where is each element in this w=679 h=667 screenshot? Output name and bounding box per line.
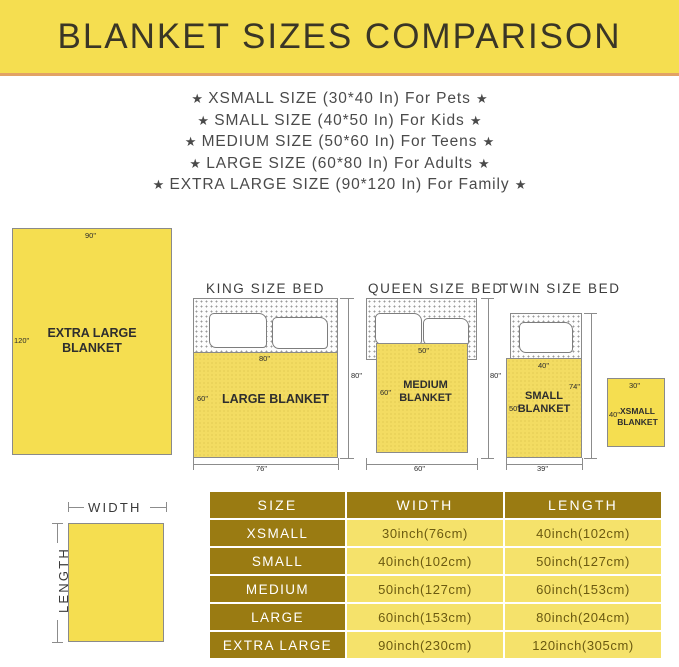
twin-blanket-label-line1: SMALL	[506, 390, 582, 403]
table-cell-size: XSMALL	[210, 520, 345, 546]
table-cell-size: SMALL	[210, 548, 345, 574]
king-bed-title: KING SIZE BED	[206, 281, 325, 296]
legend-width-rule-right	[150, 507, 166, 508]
legend-width-tick-left	[68, 502, 69, 512]
twin-width-tick-left	[506, 458, 507, 470]
list-item-label: MEDIUM SIZE (50*60 In) For Teens	[202, 133, 478, 150]
star-icon: ★	[197, 113, 209, 128]
table-row: EXTRA LARGE 90inch(230cm) 120inch(305cm)	[210, 632, 661, 658]
table-cell-size: MEDIUM	[210, 576, 345, 602]
king-length-tick-bottom	[340, 458, 354, 459]
twin-blanket-label: SMALL BLANKET	[506, 390, 582, 416]
queen-width-tick-right	[477, 458, 478, 470]
size-table: SIZE WIDTH LENGTH XSMALL 30inch(76cm) 40…	[208, 490, 663, 660]
twin-length-tick-top	[584, 313, 597, 314]
table-cell-size: EXTRA LARGE	[210, 632, 345, 658]
size-bullet-list: ★ XSMALL SIZE (30*40 In) For Pets ★ ★ SM…	[0, 88, 679, 196]
star-icon: ★	[191, 91, 203, 106]
queen-blanket-label-line1: MEDIUM	[383, 379, 468, 392]
table-row: MEDIUM 50inch(127cm) 60inch(153cm)	[210, 576, 661, 602]
header-banner: BLANKET SIZES COMPARISON	[0, 0, 679, 73]
king-length-rule	[348, 298, 349, 458]
king-blanket-width-dimension: 80"	[259, 354, 270, 363]
page-title: BLANKET SIZES COMPARISON	[57, 17, 621, 57]
list-item: ★ LARGE SIZE (60*80 In) For Adults ★	[0, 153, 679, 175]
legend-width-label: WIDTH	[88, 500, 142, 515]
twin-length-rule	[591, 313, 592, 458]
twin-width-tick-right	[582, 458, 583, 470]
list-item: ★ XSMALL SIZE (30*40 In) For Pets ★	[0, 88, 679, 110]
king-width-tick-right	[338, 458, 339, 470]
list-item: ★ EXTRA LARGE SIZE (90*120 In) For Famil…	[0, 174, 679, 196]
legend-width-rule-left	[68, 507, 84, 508]
table-cell-length: 40inch(102cm)	[505, 520, 661, 546]
king-blanket-label: LARGE BLANKET	[213, 392, 338, 407]
table-header-width: WIDTH	[347, 492, 503, 518]
legend-length-rule-bottom	[57, 620, 58, 642]
star-icon: ★	[476, 91, 488, 106]
twin-length-tick-bottom	[584, 458, 597, 459]
king-blanket-length-dimension: 60"	[197, 394, 208, 403]
table-cell-width: 50inch(127cm)	[347, 576, 503, 602]
twin-bed-length-dimension: 74"	[569, 382, 580, 391]
queen-length-tick-top	[481, 298, 494, 299]
extra-large-blanket-label-line1: EXTRA LARGE	[12, 326, 172, 341]
xsmall-blanket-label: XSMALL BLANKET	[610, 406, 665, 428]
extra-large-width-dimension: 90"	[85, 231, 96, 240]
queen-bed-width-dimension: 60"	[414, 464, 425, 473]
list-item-label: EXTRA LARGE SIZE (90*120 In) For Family	[169, 176, 509, 193]
queen-width-tick-left	[366, 458, 367, 470]
table-cell-length: 50inch(127cm)	[505, 548, 661, 574]
queen-pillow-right	[423, 318, 469, 346]
king-bed-length-dimension: 80"	[351, 371, 362, 380]
list-item: ★ SMALL SIZE (40*50 In) For Kids ★	[0, 110, 679, 132]
star-icon: ★	[189, 156, 201, 171]
queen-pillow-left	[375, 313, 422, 345]
table-header-row: SIZE WIDTH LENGTH	[210, 492, 661, 518]
extra-large-blanket-label-line2: BLANKET	[12, 341, 172, 356]
legend-blanket-shape	[68, 523, 164, 642]
table-cell-width: 30inch(76cm)	[347, 520, 503, 546]
star-icon: ★	[153, 177, 165, 192]
queen-length-rule	[488, 298, 489, 458]
legend-length-tick-top	[52, 523, 63, 524]
legend-length-rule-top	[57, 523, 58, 543]
queen-bed-length-dimension: 80"	[490, 371, 501, 380]
table-cell-width: 60inch(153cm)	[347, 604, 503, 630]
queen-blanket-label: MEDIUM BLANKET	[383, 379, 468, 405]
star-icon: ★	[185, 134, 197, 149]
king-pillow-left	[209, 313, 267, 348]
table-cell-size: LARGE	[210, 604, 345, 630]
table-row: SMALL 40inch(102cm) 50inch(127cm)	[210, 548, 661, 574]
extra-large-blanket-label: EXTRA LARGE BLANKET	[12, 326, 172, 356]
table-header-length: LENGTH	[505, 492, 661, 518]
xsmall-blanket-label-line1: XSMALL	[610, 406, 665, 417]
legend-width-tick-right	[166, 502, 167, 512]
table-cell-length: 120inch(305cm)	[505, 632, 661, 658]
table-cell-length: 60inch(153cm)	[505, 576, 661, 602]
queen-bed-title: QUEEN SIZE BED	[368, 281, 504, 296]
twin-blanket-width-dimension: 40"	[538, 361, 549, 370]
table-row: XSMALL 30inch(76cm) 40inch(102cm)	[210, 520, 661, 546]
table-cell-width: 40inch(102cm)	[347, 548, 503, 574]
legend-length-label: LENGTH	[56, 547, 71, 613]
list-item-label: SMALL SIZE (40*50 In) For Kids	[214, 112, 464, 129]
star-icon: ★	[515, 177, 527, 192]
list-item-label: XSMALL SIZE (30*40 In) For Pets	[208, 90, 471, 107]
queen-blanket-label-line2: BLANKET	[383, 392, 468, 405]
twin-blanket-label-line2: BLANKET	[506, 403, 582, 416]
king-bed-width-dimension: 76"	[256, 464, 267, 473]
king-pillow-right	[272, 317, 328, 349]
table-cell-length: 80inch(204cm)	[505, 604, 661, 630]
xsmall-blanket-label-line2: BLANKET	[610, 417, 665, 428]
list-item: ★ MEDIUM SIZE (50*60 In) For Teens ★	[0, 131, 679, 153]
twin-pillow	[519, 322, 573, 353]
header-divider	[0, 73, 679, 76]
king-length-tick-top	[340, 298, 354, 299]
queen-length-tick-bottom	[481, 458, 494, 459]
twin-bed-width-dimension: 39"	[537, 464, 548, 473]
star-icon: ★	[470, 113, 482, 128]
legend-length-tick-bottom	[52, 642, 63, 643]
twin-bed-title: TWIN SIZE BED	[500, 281, 621, 296]
xsmall-width-dimension: 30"	[629, 381, 640, 390]
star-icon: ★	[478, 156, 490, 171]
table-header-size: SIZE	[210, 492, 345, 518]
queen-blanket-width-dimension: 50"	[418, 346, 429, 355]
table-cell-width: 90inch(230cm)	[347, 632, 503, 658]
table-row: LARGE 60inch(153cm) 80inch(204cm)	[210, 604, 661, 630]
star-icon: ★	[483, 134, 495, 149]
list-item-label: LARGE SIZE (60*80 In) For Adults	[206, 155, 473, 172]
king-width-tick-left	[193, 458, 194, 470]
